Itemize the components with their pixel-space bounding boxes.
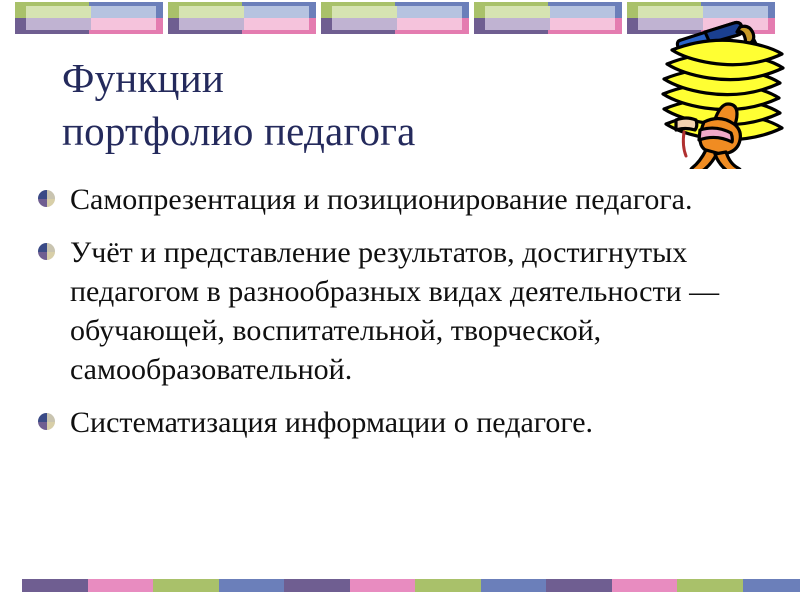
bottom-band-block (677, 579, 800, 592)
slide-bullet-list: Самопрезентация и позиционирование педаг… (34, 180, 734, 442)
top-band-block (15, 2, 163, 34)
list-item: Учёт и представление результатов, достиг… (34, 233, 734, 389)
sphere-bullet-icon (38, 243, 55, 260)
list-item: Самопрезентация и позиционирование педаг… (34, 180, 734, 219)
bottom-band-block (22, 579, 154, 592)
slide-title: Функции портфолио педагога (62, 52, 642, 159)
sphere-bullet-icon (38, 190, 55, 207)
list-item-text: Самопрезентация и позиционирование педаг… (70, 183, 692, 216)
bottom-band-block (153, 579, 285, 592)
bottom-band-block (415, 579, 547, 592)
title-line-2: портфолио педагога (62, 105, 642, 158)
person-carrying-papers-illustration (648, 4, 800, 169)
presentation-slide: Функции портфолио педагога Самопрезентац… (0, 0, 800, 600)
bottom-band-block (546, 579, 678, 592)
list-item-text: Систематизация информации о педагоге. (70, 406, 593, 439)
list-item: Систематизация информации о педагоге. (34, 403, 734, 442)
bottom-band-block (284, 579, 416, 592)
sphere-bullet-icon (38, 413, 55, 430)
bottom-decorative-band (0, 579, 800, 592)
top-band-block (474, 2, 622, 34)
list-item-text: Учёт и представление результатов, достиг… (70, 236, 719, 386)
title-line-1: Функции (62, 52, 642, 105)
top-band-block (168, 2, 316, 34)
top-band-block (321, 2, 469, 34)
